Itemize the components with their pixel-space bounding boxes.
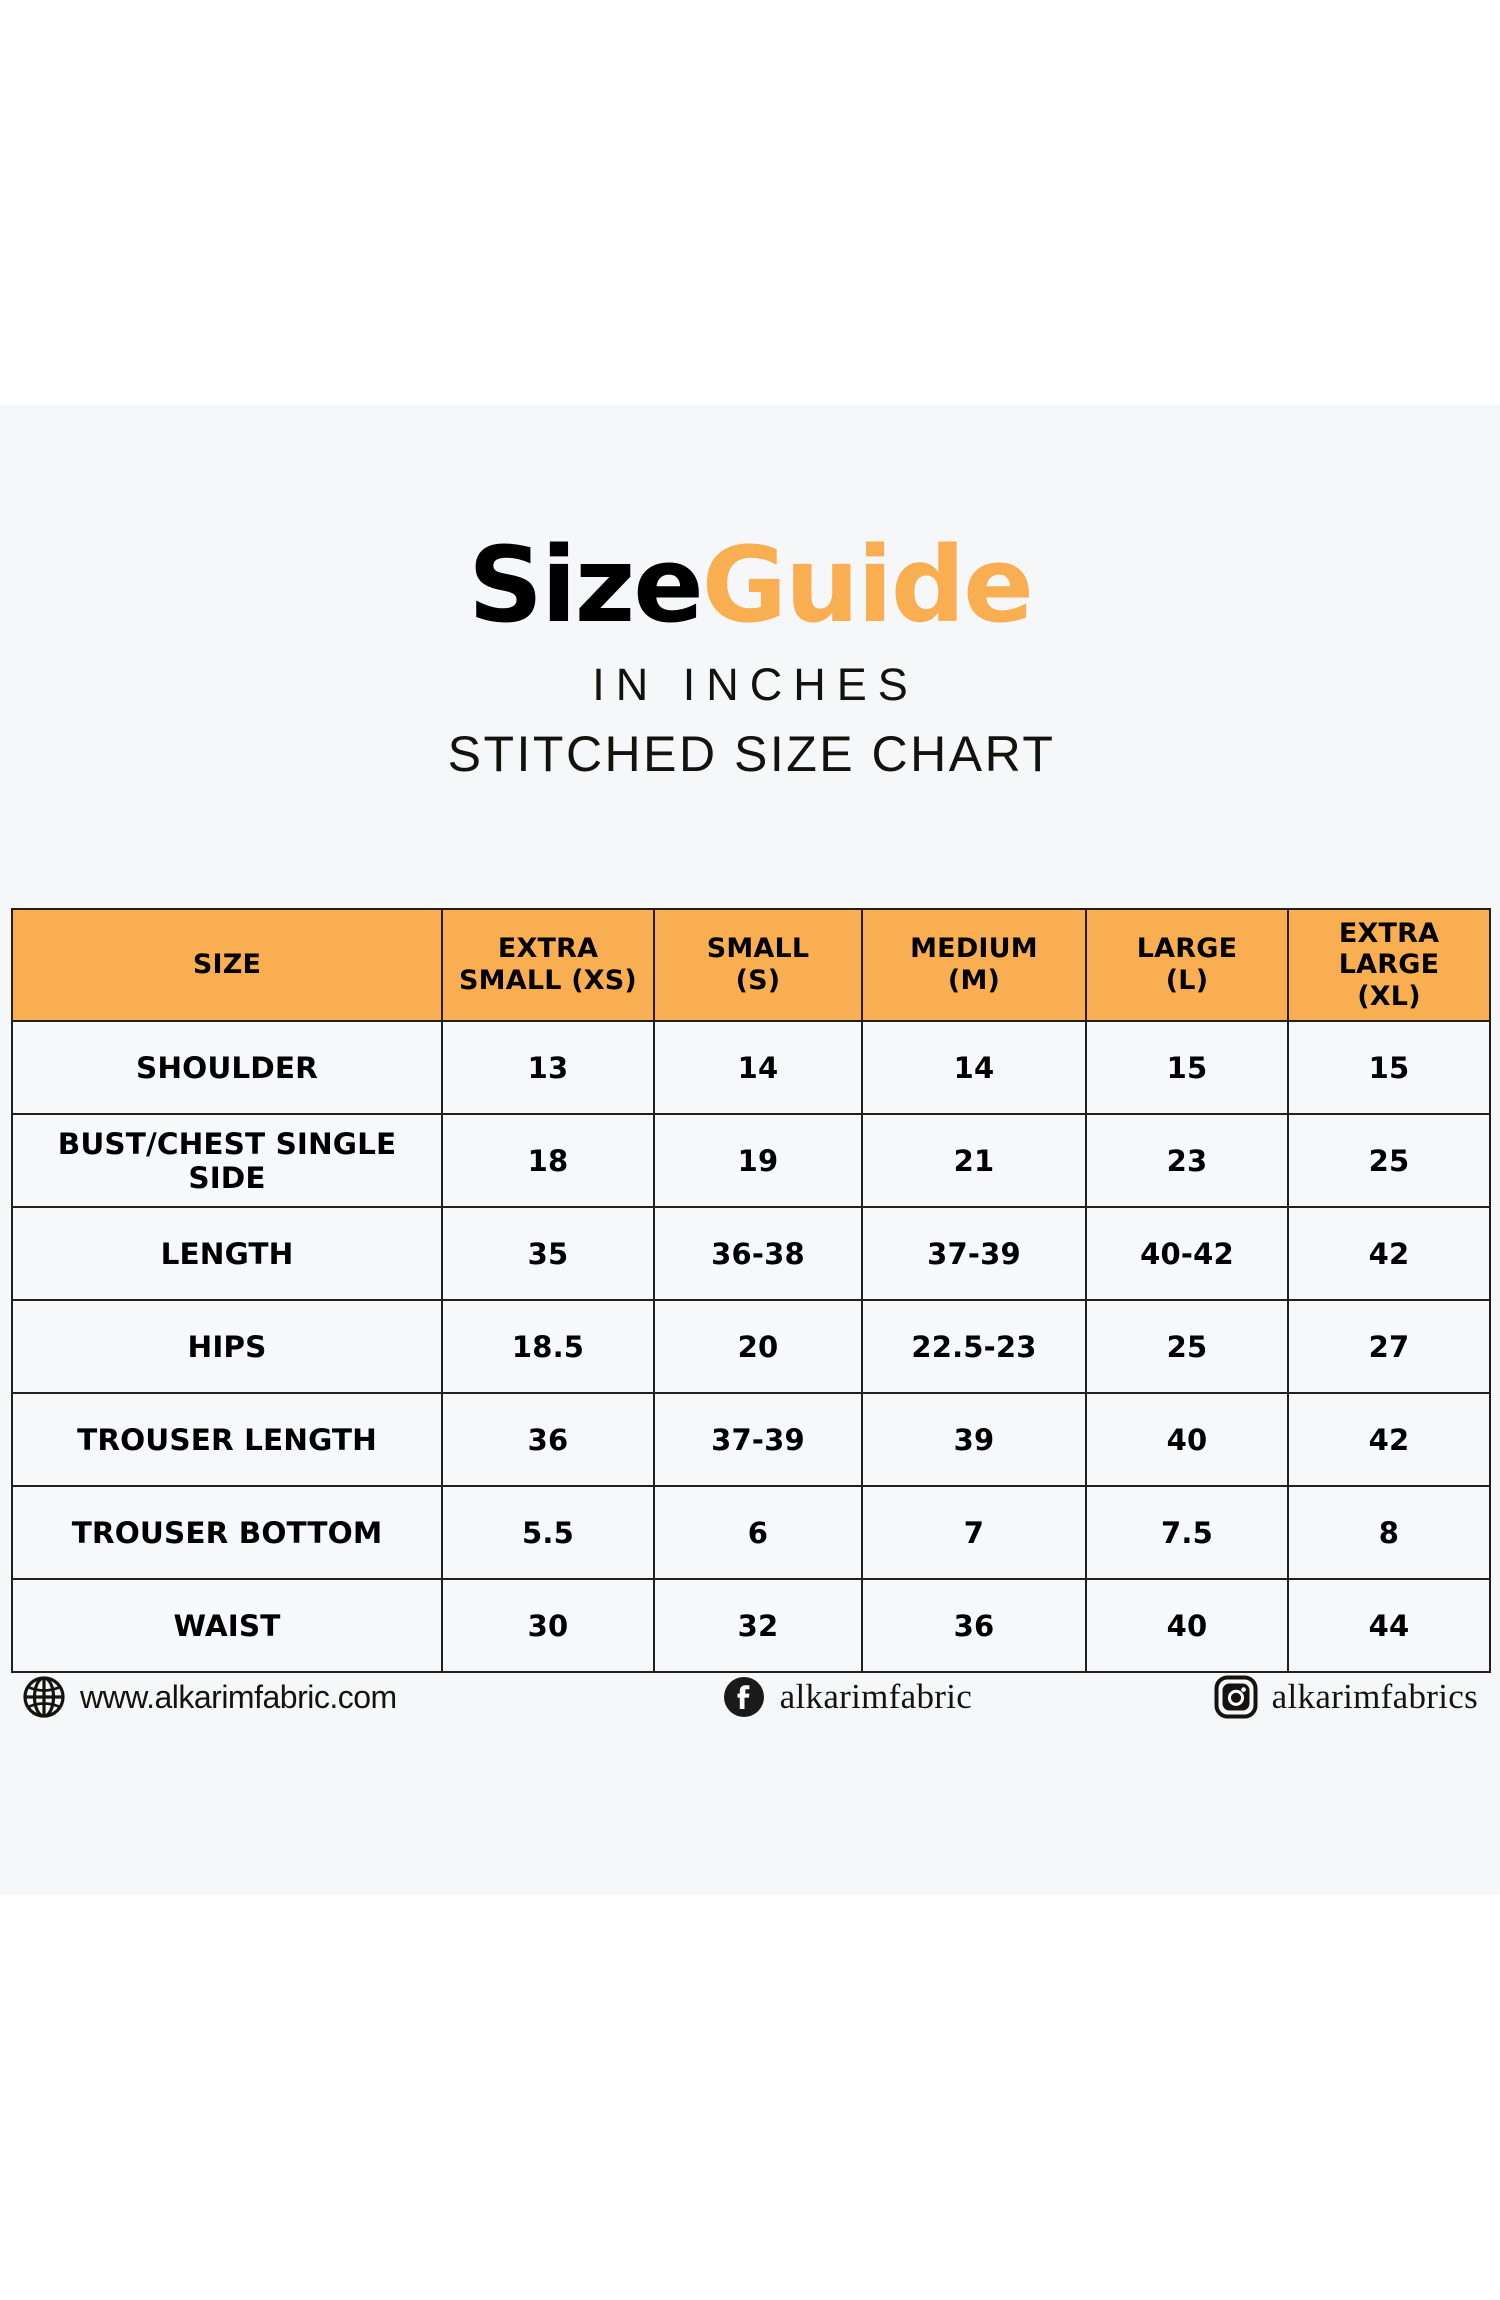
cell-length-s: 36-38 xyxy=(654,1207,862,1300)
size-guide-card: SizeGuide IN INCHES STITCHED SIZE CHART … xyxy=(0,405,1500,1895)
page-title: SizeGuide xyxy=(0,533,1500,637)
table-header-row: SIZE EXTRASMALL (XS) SMALL(S) MEDIUM(M) … xyxy=(12,909,1490,1021)
cell-trouser-bottom-s: 6 xyxy=(654,1486,862,1579)
cell-hips-xs: 18.5 xyxy=(442,1300,654,1393)
cell-shoulder-s: 14 xyxy=(654,1021,862,1114)
instagram-icon xyxy=(1214,1675,1258,1719)
size-table-container: SIZE EXTRASMALL (XS) SMALL(S) MEDIUM(M) … xyxy=(11,908,1489,1673)
facebook-icon xyxy=(722,1675,766,1719)
column-header-size: SIZE xyxy=(12,909,442,1021)
footer-instagram[interactable]: alkarimfabrics xyxy=(1214,1675,1478,1719)
table-row: WAIST 30 32 36 40 44 xyxy=(12,1579,1490,1672)
column-header-xs-line1: EXTRA xyxy=(498,933,598,964)
cell-shoulder-xl: 15 xyxy=(1288,1021,1490,1114)
column-header-xl-line2: (XL) xyxy=(1357,981,1421,1012)
table-row: HIPS 18.5 20 22.5-23 25 27 xyxy=(12,1300,1490,1393)
column-header-m: MEDIUM(M) xyxy=(862,909,1086,1021)
cell-length-xl: 42 xyxy=(1288,1207,1490,1300)
cell-bust-s: 19 xyxy=(654,1114,862,1207)
column-header-xs-line2: SMALL (XS) xyxy=(459,965,637,996)
globe-icon xyxy=(22,1675,66,1719)
cell-waist-xl: 44 xyxy=(1288,1579,1490,1672)
cell-bust-m: 21 xyxy=(862,1114,1086,1207)
cell-bust-l: 23 xyxy=(1086,1114,1288,1207)
cell-hips-l: 25 xyxy=(1086,1300,1288,1393)
title-word-guide: Guide xyxy=(702,524,1032,646)
cell-trouser-length-xs: 36 xyxy=(442,1393,654,1486)
footer-website[interactable]: www.alkarimfabric.com xyxy=(22,1675,397,1719)
cell-bust-xl: 25 xyxy=(1288,1114,1490,1207)
cell-trouser-length-l: 40 xyxy=(1086,1393,1288,1486)
cell-shoulder-xs: 13 xyxy=(442,1021,654,1114)
cell-trouser-length-m: 39 xyxy=(862,1393,1086,1486)
cell-waist-m: 36 xyxy=(862,1579,1086,1672)
cell-waist-l: 40 xyxy=(1086,1579,1288,1672)
column-header-l-line2: (L) xyxy=(1166,965,1208,996)
table-row: TROUSER BOTTOM 5.5 6 7 7.5 8 xyxy=(12,1486,1490,1579)
cell-trouser-length-xl: 42 xyxy=(1288,1393,1490,1486)
column-header-l: LARGE(L) xyxy=(1086,909,1288,1021)
row-label-bust-chest: BUST/CHEST SINGLE SIDE xyxy=(12,1114,442,1207)
row-label-shoulder: SHOULDER xyxy=(12,1021,442,1114)
cell-trouser-bottom-xl: 8 xyxy=(1288,1486,1490,1579)
table-row: SHOULDER 13 14 14 15 15 xyxy=(12,1021,1490,1114)
cell-length-m: 37-39 xyxy=(862,1207,1086,1300)
row-label-trouser-bottom: TROUSER BOTTOM xyxy=(12,1486,442,1579)
cell-shoulder-m: 14 xyxy=(862,1021,1086,1114)
cell-length-xs: 35 xyxy=(442,1207,654,1300)
column-header-s-line1: SMALL xyxy=(707,933,810,964)
title-block: SizeGuide IN INCHES STITCHED SIZE CHART xyxy=(0,405,1500,783)
footer-instagram-text: alkarimfabrics xyxy=(1272,1677,1478,1717)
table-row: BUST/CHEST SINGLE SIDE 18 19 21 23 25 xyxy=(12,1114,1490,1207)
subtitle-chart-kind: STITCHED SIZE CHART xyxy=(0,725,1500,783)
footer-facebook[interactable]: alkarimfabric xyxy=(722,1675,972,1719)
cell-hips-m: 22.5-23 xyxy=(862,1300,1086,1393)
column-header-xs: EXTRASMALL (XS) xyxy=(442,909,654,1021)
cell-hips-s: 20 xyxy=(654,1300,862,1393)
footer-website-text: www.alkarimfabric.com xyxy=(80,1679,397,1716)
cell-hips-xl: 27 xyxy=(1288,1300,1490,1393)
cell-trouser-bottom-l: 7.5 xyxy=(1086,1486,1288,1579)
cell-trouser-length-s: 37-39 xyxy=(654,1393,862,1486)
cell-trouser-bottom-xs: 5.5 xyxy=(442,1486,654,1579)
column-header-s-line2: (S) xyxy=(736,965,781,996)
cell-bust-xs: 18 xyxy=(442,1114,654,1207)
cell-waist-xs: 30 xyxy=(442,1579,654,1672)
row-label-trouser-length: TROUSER LENGTH xyxy=(12,1393,442,1486)
row-label-waist: WAIST xyxy=(12,1579,442,1672)
footer-facebook-text: alkarimfabric xyxy=(780,1677,972,1717)
footer: www.alkarimfabric.com alkarimfabric alka… xyxy=(0,1675,1500,1719)
table-row: TROUSER LENGTH 36 37-39 39 40 42 xyxy=(12,1393,1490,1486)
table-row: LENGTH 35 36-38 37-39 40-42 42 xyxy=(12,1207,1490,1300)
cell-shoulder-l: 15 xyxy=(1086,1021,1288,1114)
column-header-size-line1: SIZE xyxy=(193,949,261,980)
size-table: SIZE EXTRASMALL (XS) SMALL(S) MEDIUM(M) … xyxy=(11,908,1491,1673)
cell-length-l: 40-42 xyxy=(1086,1207,1288,1300)
subtitle-units: IN INCHES xyxy=(0,659,1500,711)
title-word-size: Size xyxy=(468,524,702,646)
column-header-m-line2: (M) xyxy=(948,965,1000,996)
cell-waist-s: 32 xyxy=(654,1579,862,1672)
row-label-hips: HIPS xyxy=(12,1300,442,1393)
page-root: SizeGuide IN INCHES STITCHED SIZE CHART … xyxy=(0,0,1500,2300)
column-header-xl-line1: EXTRA LARGE xyxy=(1339,918,1440,981)
column-header-l-line1: LARGE xyxy=(1137,933,1238,964)
column-header-m-line1: MEDIUM xyxy=(910,933,1038,964)
cell-trouser-bottom-m: 7 xyxy=(862,1486,1086,1579)
column-header-xl: EXTRA LARGE(XL) xyxy=(1288,909,1490,1021)
row-label-length: LENGTH xyxy=(12,1207,442,1300)
column-header-s: SMALL(S) xyxy=(654,909,862,1021)
